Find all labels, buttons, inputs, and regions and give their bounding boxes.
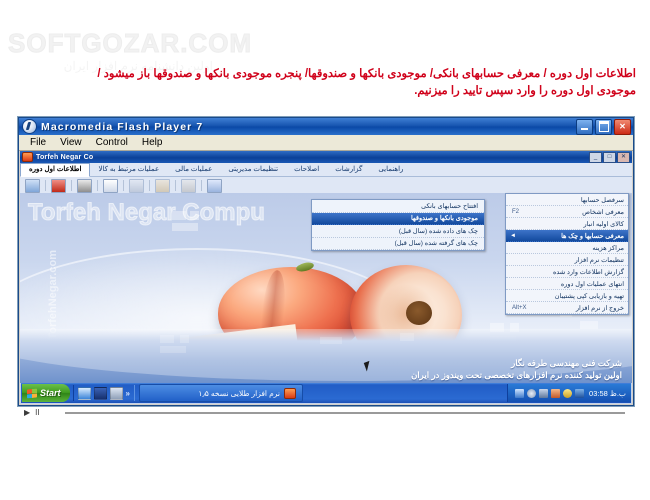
decorative-square [160, 335, 174, 343]
decorative-square [320, 337, 342, 344]
start-button-label: Start [40, 388, 61, 398]
maximize-button[interactable] [595, 119, 612, 135]
note-icon[interactable] [103, 179, 118, 193]
close-button[interactable]: ✕ [614, 119, 631, 135]
menu-item-corrections[interactable]: اصلاحات [286, 164, 327, 176]
flash-menu-bar: File View Control Help [19, 135, 633, 151]
banner-line-2: اولین تولید کننده نرم افزارهای تخصصی تحت… [411, 369, 622, 381]
decorative-square [172, 223, 198, 231]
media-icon[interactable] [110, 387, 123, 400]
menu-row-label: معرفی اشخاص [519, 208, 624, 216]
background-wordmark: Torfeh Negar Compu [28, 199, 265, 227]
language-icon[interactable] [575, 389, 584, 398]
menu-row-entered-data-report[interactable]: گزارش اطلاعات وارد شده [506, 266, 628, 278]
menu-row-label: گزارش اطلاعات وارد شده [512, 268, 624, 276]
menu-row-chart-of-accounts[interactable]: سرفصل حسابها [506, 194, 628, 206]
quicklaunch-more-icon[interactable]: » [126, 389, 130, 398]
system-tray: 03:58 ب.ظ [507, 384, 631, 402]
play-button[interactable]: ▶ [24, 408, 30, 417]
network-icon[interactable] [527, 389, 536, 398]
menu-row-accel: Alt+X [510, 305, 527, 311]
app-close-button[interactable]: ✕ [617, 152, 630, 163]
caption-line-1: اطلاعات اول دوره / معرفی حسابهای بانکی/ … [14, 66, 636, 83]
menu-view[interactable]: View [53, 136, 89, 150]
torfeh-negar-application: Torfeh Negar Co _ □ ✕ اطلاعات اول دوره ع… [20, 151, 632, 404]
lock-icon[interactable] [181, 179, 196, 193]
page-caption: اطلاعات اول دوره / معرفی حسابهای بانکی/ … [14, 66, 636, 100]
decorative-square [190, 211, 199, 220]
menu-row-accounts-and-checks[interactable]: معرفی حسابها و چک ها ◄ [506, 230, 628, 242]
menu-item-admin-settings[interactable]: تنظیمات مدیریتی [220, 164, 286, 176]
peach-pit [406, 301, 432, 325]
app-window-title: Torfeh Negar Co [36, 154, 589, 161]
task-app-icon [284, 388, 296, 399]
menu-row-label: تهیه و بازیابی کپی پشتیبان [512, 292, 624, 300]
accounts-and-checks-submenu[interactable]: افتتاح حسابهای بانکی موجودی بانکها و صند… [311, 199, 485, 251]
toolbar-separator [71, 180, 72, 191]
app-title-bar[interactable]: Torfeh Negar Co _ □ ✕ [20, 151, 632, 163]
menu-item-reports[interactable]: گزارشات [327, 164, 370, 176]
minimize-button[interactable] [576, 119, 593, 135]
submenu-row-bank-and-cash-balance[interactable]: موجودی بانکها و صندوقها [312, 213, 484, 226]
menu-row-label: معرفی حسابها و چک ها [516, 232, 624, 240]
menu-row-end-initial-operations[interactable]: انتهای عملیات اول دوره [506, 278, 628, 290]
app-menu-bar: اطلاعات اول دوره عملیات مرتبط به کالا عم… [20, 163, 632, 177]
menu-row-software-settings[interactable]: تنظیمات نرم افزار [506, 254, 628, 266]
banner-line-1: شرکت فنی مهندسی طرفه نگار [411, 357, 622, 369]
tray-clock[interactable]: 03:58 ب.ظ [587, 389, 626, 398]
windows-flag-icon [27, 388, 37, 398]
splash-banner: شرکت فنی مهندسی طرفه نگار اولین تولید کن… [20, 329, 632, 383]
menu-row-exit-software[interactable]: خروج از نرم افزار Alt+X [506, 302, 628, 314]
watermark-title: SOFTGOZAR.COM [8, 30, 268, 56]
edit-icon[interactable] [155, 179, 170, 193]
chart-icon[interactable] [207, 179, 222, 193]
submenu-row-issued-checks-prev-year[interactable]: چک های داده شده (سال قبل) [312, 225, 484, 238]
toolbar-separator [97, 180, 98, 191]
flash-window-title: Macromedia Flash Player 7 [41, 121, 576, 133]
decorative-square [580, 321, 598, 329]
menu-row-backup-restore[interactable]: تهیه و بازیابی کپی پشتیبان [506, 290, 628, 302]
initial-data-dropdown-menu[interactable]: سرفصل حسابها معرفی اشخاص F2 کالای اولیه … [505, 193, 629, 315]
display-icon[interactable] [539, 389, 548, 398]
flash-icon [22, 119, 37, 134]
menu-row-label: سرفصل حسابها [512, 196, 624, 204]
flash-title-bar[interactable]: Macromedia Flash Player 7 ✕ [19, 118, 633, 135]
submenu-row-open-bank-accounts[interactable]: افتتاح حسابهای بانکی [312, 200, 484, 213]
save-icon[interactable] [77, 179, 92, 193]
menu-help[interactable]: Help [135, 136, 170, 150]
menu-row-label: کالای اولیه انبار [512, 220, 624, 228]
volume-icon[interactable] [551, 389, 560, 398]
toolbar-separator [123, 180, 124, 191]
decorative-square [400, 333, 414, 341]
app-minimize-button[interactable]: _ [589, 152, 602, 163]
menu-row-label: انتهای عملیات اول دوره [512, 280, 624, 288]
antivirus-icon[interactable] [94, 387, 107, 400]
menu-control[interactable]: Control [89, 136, 135, 150]
decorative-square [180, 335, 189, 343]
menu-row-initial-warehouse-goods[interactable]: کالای اولیه انبار [506, 218, 628, 230]
decorative-square [172, 211, 186, 220]
banner-text: شرکت فنی مهندسی طرفه نگار اولین تولید کن… [411, 357, 622, 381]
menu-file[interactable]: File [23, 136, 53, 150]
show-desktop-icon[interactable] [78, 387, 91, 400]
submenu-row-received-checks-prev-year[interactable]: چک های گرفته شده (سال قبل) [312, 238, 484, 251]
flash-progress-bar[interactable] [65, 412, 625, 414]
toolbar-separator [45, 180, 46, 191]
menu-row-label: مراکز هزینه [512, 244, 624, 252]
menu-item-initial-data[interactable]: اطلاعات اول دوره [20, 163, 90, 177]
windows-taskbar: Start » نرم افزار طلایی نسخه ۱٫۵ 03:58 ب… [21, 383, 631, 403]
menu-row-label: تنظیمات نرم افزار [512, 256, 624, 264]
taskbar-task-button[interactable]: نرم افزار طلایی نسخه ۱٫۵ [139, 384, 303, 402]
start-button[interactable]: Start [22, 384, 70, 402]
print-icon[interactable] [129, 179, 144, 193]
app-maximize-button[interactable]: □ [603, 152, 616, 163]
menu-item-financial-ops[interactable]: عملیات مالی [167, 164, 220, 176]
pause-button[interactable]: II [35, 408, 39, 417]
caption-line-2: موجودی اول دوره را وارد سپس تایید را میز… [14, 83, 636, 100]
menu-row-label: خروج از نرم افزار [527, 304, 624, 312]
flash-player-window: Macromedia Flash Player 7 ✕ File View Co… [18, 117, 634, 406]
camera-icon[interactable] [25, 179, 40, 193]
menu-row-accel: F2 [510, 209, 519, 215]
menu-row-introduce-persons[interactable]: معرفی اشخاص F2 [506, 206, 628, 218]
menu-row-cost-centers[interactable]: مراکز هزینه [506, 242, 628, 254]
phone-icon[interactable] [51, 179, 66, 193]
toolbar-separator [175, 180, 176, 191]
task-button-label: نرم افزار طلایی نسخه ۱٫۵ [198, 389, 280, 398]
monitor-icon[interactable] [515, 389, 524, 398]
submenu-arrow-icon: ◄ [510, 233, 516, 239]
quick-launch-bar: » [73, 385, 135, 401]
toolbar-separator [149, 180, 150, 191]
menu-item-help[interactable]: راهنمایی [370, 164, 411, 176]
app-icon [22, 152, 33, 162]
menu-item-goods-ops[interactable]: عملیات مرتبط به کالا [90, 164, 167, 176]
toolbar-separator [201, 180, 202, 191]
shield-icon[interactable] [563, 389, 572, 398]
decorative-square [160, 346, 186, 353]
window-button-group: ✕ [576, 119, 631, 135]
app-window-button-group: _ □ ✕ [589, 152, 630, 163]
